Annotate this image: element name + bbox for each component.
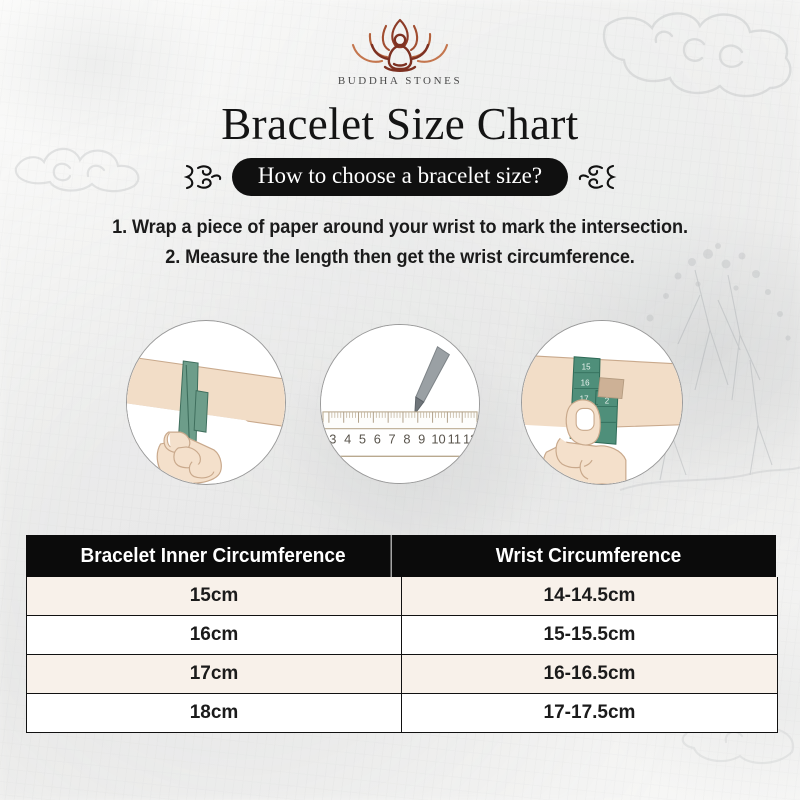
svg-text:7: 7	[389, 432, 396, 447]
size-chart-page: BUDDHA STONES Bracelet Size Chart How to…	[0, 0, 800, 800]
illustration-read-tape: 151617 2	[521, 320, 683, 485]
table-header-row: Bracelet Inner Circumference Wrist Circu…	[26, 535, 776, 577]
svg-text:11: 11	[448, 432, 461, 447]
svg-text:10: 10	[431, 432, 445, 447]
cell-bracelet-circumference: 16cm	[27, 616, 402, 654]
flourish-ornament-left-icon	[181, 160, 223, 194]
tape-measure-on-wrist-icon: 151617 2	[522, 321, 682, 484]
illustration-row: 345 678 91011 12	[0, 318, 800, 486]
cell-bracelet-circumference: 15cm	[27, 577, 402, 615]
page-title: Bracelet Size Chart	[0, 98, 800, 150]
cell-bracelet-circumference: 17cm	[27, 655, 402, 693]
svg-text:9: 9	[418, 432, 425, 447]
cell-wrist-circumference: 15-15.5cm	[402, 616, 777, 654]
fingernail	[576, 408, 594, 430]
lotus-meditation-icon	[337, 14, 463, 78]
instruction-list: 1. Wrap a piece of paper around your wri…	[0, 212, 800, 272]
size-table: Bracelet Inner Circumference Wrist Circu…	[26, 535, 776, 733]
subtitle-pill: How to choose a bracelet size?	[232, 158, 568, 196]
column-header-wrist: Wrist Circumference	[410, 535, 766, 577]
arm-with-paper-strip-icon	[127, 321, 285, 484]
cell-wrist-circumference: 16-16.5cm	[402, 655, 777, 693]
svg-text:5: 5	[359, 432, 366, 447]
brand-name: BUDDHA STONES	[0, 75, 800, 87]
illustration-measure-ruler: 345 678 91011 12	[320, 324, 480, 484]
table-row: 17cm 16-16.5cm	[26, 655, 778, 694]
cell-wrist-circumference: 14-14.5cm	[402, 577, 777, 615]
column-header-bracelet: Bracelet Inner Circumference	[35, 535, 391, 577]
table-row: 18cm 17-17.5cm	[26, 694, 778, 733]
instruction-step-1: 1. Wrap a piece of paper around your wri…	[28, 212, 772, 242]
table-row: 16cm 15-15.5cm	[26, 616, 778, 655]
flourish-ornament-right-icon	[577, 160, 619, 194]
ruler-and-pencil-icon: 345 678 91011 12	[321, 325, 479, 483]
svg-text:3: 3	[329, 432, 336, 447]
table-row: 15cm 14-14.5cm	[26, 577, 778, 616]
svg-text:6: 6	[374, 432, 381, 447]
instruction-step-2: 2. Measure the length then get the wrist…	[28, 242, 772, 272]
subtitle-row: How to choose a bracelet size?	[0, 158, 800, 196]
svg-text:15: 15	[582, 363, 591, 372]
svg-text:12: 12	[463, 432, 477, 447]
cell-bracelet-circumference: 18cm	[27, 694, 402, 732]
svg-text:16: 16	[581, 379, 590, 388]
svg-text:4: 4	[344, 432, 351, 447]
brand-logo: BUDDHA STONES	[0, 14, 800, 87]
cell-wrist-circumference: 17-17.5cm	[402, 694, 777, 732]
svg-text:8: 8	[403, 432, 410, 447]
illustration-wrap-paper	[126, 320, 286, 485]
